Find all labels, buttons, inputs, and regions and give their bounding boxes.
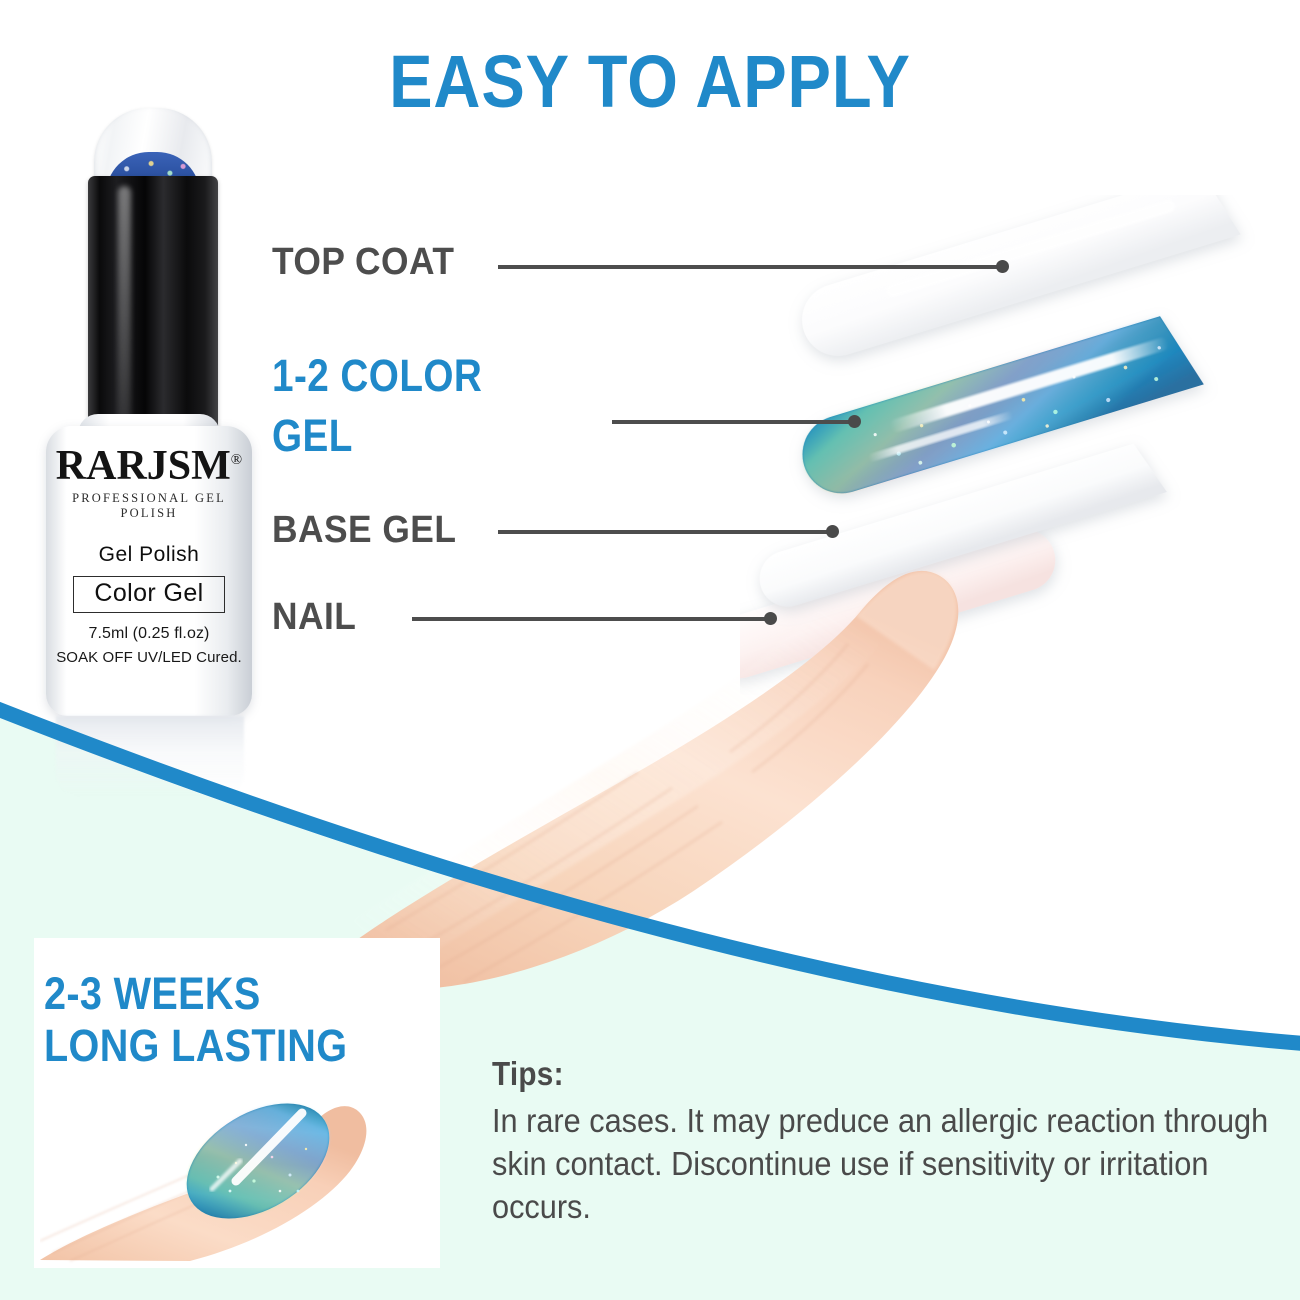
badge-line-2: LONG LASTING bbox=[44, 1020, 396, 1072]
tips-body: In rare cases. It may preduce an allergi… bbox=[492, 1099, 1278, 1228]
brand-name: RARJSM® bbox=[56, 438, 242, 488]
label-color-gel-line2: GEL bbox=[272, 410, 353, 462]
bottle-label: RARJSM® PROFESSIONAL GEL POLISH Gel Poli… bbox=[46, 438, 252, 666]
leader-line-nail bbox=[412, 617, 776, 621]
label-top-coat: TOP COAT bbox=[272, 240, 454, 284]
leader-line-color-gel bbox=[612, 420, 857, 424]
product-bottle: RARJSM® PROFESSIONAL GEL POLISH Gel Poli… bbox=[22, 108, 272, 708]
bottle-cap-black bbox=[88, 176, 218, 448]
tips-block: Tips: In rare cases. It may preduce an a… bbox=[492, 1055, 1282, 1228]
badge-long-lasting: 2-3 WEEKS LONG LASTING bbox=[44, 968, 396, 1072]
label-base-gel: BASE GEL bbox=[272, 508, 456, 552]
bottle-cap-dome bbox=[94, 108, 212, 186]
leader-dot-top-coat bbox=[996, 260, 1009, 273]
product-name-box: Color Gel bbox=[73, 576, 225, 613]
infographic-page: EASY TO APPLY RARJSM® PROFESSIONAL GEL P… bbox=[0, 0, 1300, 1300]
badge-line-1: 2-3 WEEKS bbox=[44, 968, 396, 1020]
manicure-swatch-photo bbox=[40, 1085, 434, 1265]
cap-gloss-highlight bbox=[118, 186, 131, 436]
registered-trademark-icon: ® bbox=[231, 452, 242, 468]
label-color-gel-line1: 1-2 COLOR bbox=[272, 350, 482, 402]
leader-dot-nail bbox=[764, 612, 777, 625]
brand-tagline: PROFESSIONAL GEL POLISH bbox=[46, 491, 252, 521]
tips-title: Tips: bbox=[492, 1055, 564, 1093]
product-line-text: Gel Polish bbox=[46, 543, 252, 567]
leader-dot-base-gel bbox=[826, 525, 839, 538]
leader-line-base-gel bbox=[498, 530, 838, 534]
leader-dot-color-gel bbox=[848, 415, 861, 428]
brand-text: RARJSM bbox=[56, 443, 231, 489]
label-nail: NAIL bbox=[272, 595, 356, 639]
leader-line-top-coat bbox=[498, 265, 1008, 269]
